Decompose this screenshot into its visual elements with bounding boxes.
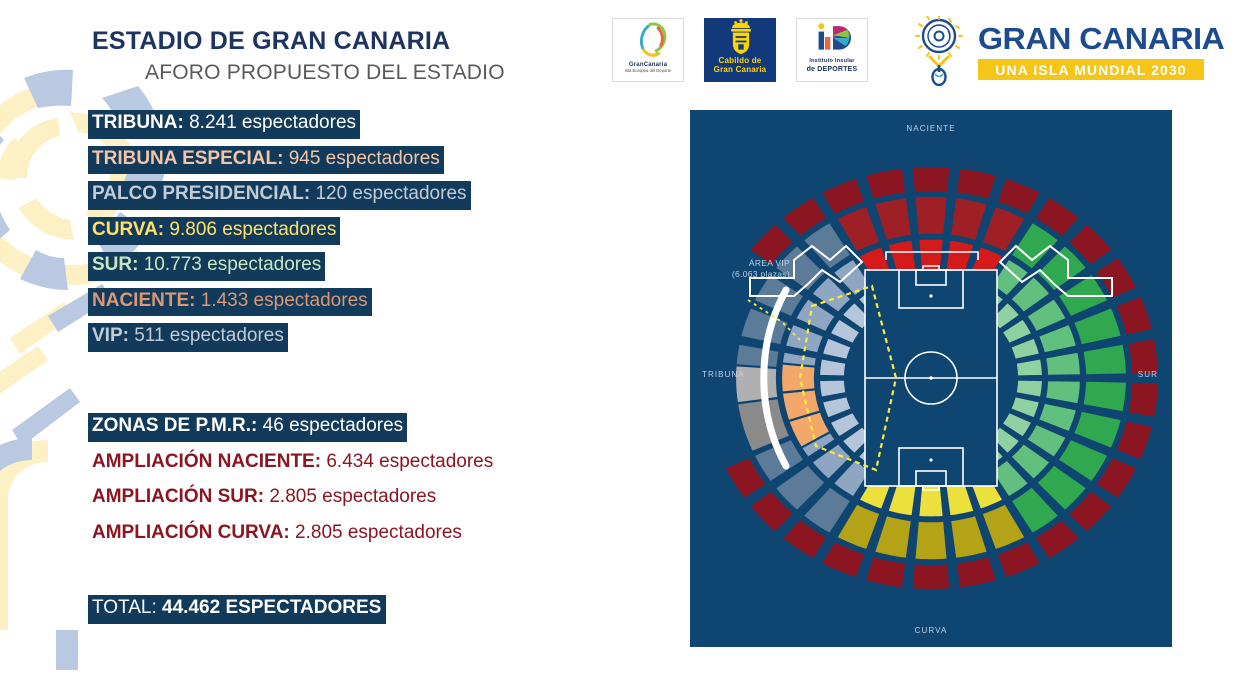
cab-line1: Cabildo de: [719, 56, 762, 65]
logo-gran-canaria: GranCanaria Isla Europea del Deporte: [612, 18, 684, 82]
capacity-chip: ZONAS DE P.M.R.: 46 espectadores: [88, 413, 407, 442]
capacity-row: ZONAS DE P.M.R.: 46 espectadores: [88, 413, 497, 442]
capacity-row: TRIBUNA ESPECIAL: 945 espectadores: [88, 146, 471, 175]
seating-block: [865, 168, 907, 200]
label-area-vip: ÁREA VIP (6.063 plazas): [698, 258, 790, 281]
capacity-chip: CURVA: 9.806 espectadores: [88, 217, 340, 246]
seating-block: [865, 556, 907, 588]
capacity-value: 2.805 espectadores: [269, 486, 436, 507]
seating-block: [956, 556, 998, 588]
capacity-label: CURVA:: [92, 219, 164, 240]
capacity-value: 6.434 espectadores: [326, 451, 493, 472]
stadium-seating-map: [690, 110, 1172, 647]
total-label: TOTAL:: [92, 597, 157, 618]
gc-line2: Isla Europea del Deporte: [613, 69, 683, 74]
vip-line2: (6.063 plazas): [698, 269, 790, 280]
capacity-chip: NACIENTE: 1.433 espectadores: [88, 288, 372, 317]
capacity-label: TRIBUNA:: [92, 112, 184, 133]
capacity-label: AMPLIACIÓN SUR:: [92, 486, 264, 507]
page-title: ESTADIO DE GRAN CANARIA: [92, 27, 450, 56]
seating-block: [874, 515, 912, 559]
brand-tagline: UNA ISLA MUNDIAL 2030: [978, 62, 1204, 78]
capacity-label: AMPLIACIÓN NACIENTE:: [92, 451, 321, 472]
label-naciente: NACIENTE: [690, 124, 1172, 133]
capacity-chip: VIP: 511 espectadores: [88, 323, 288, 352]
seating-block: [929, 458, 932, 461]
capacity-value: 945 espectadores: [289, 148, 440, 169]
capacity-row: TRIBUNA: 8.241 espectadores: [88, 110, 471, 139]
capacity-value: 1.433 espectadores: [201, 290, 368, 311]
cabildo-crest-icon: [705, 19, 777, 55]
iid-caption: Instituto Insular de DEPORTES: [797, 58, 867, 74]
capacity-row: PALCO PRESIDENCIAL: 120 espectadores: [88, 181, 471, 210]
seating-block: [912, 563, 951, 590]
capacity-chip: AMPLIACIÓN NACIENTE: 6.434 espectadores: [88, 449, 497, 478]
capacity-label: NACIENTE:: [92, 290, 195, 311]
capacity-value: 10.773 espectadores: [144, 254, 321, 275]
seating-block: [950, 197, 988, 241]
capacity-row: AMPLIACIÓN CURVA: 2.805 espectadores: [88, 520, 497, 549]
capacity-label: TRIBUNA ESPECIAL:: [92, 148, 283, 169]
logo-cabildo: Cabildo de Gran Canaria: [704, 18, 776, 82]
seating-block: [1015, 358, 1043, 376]
capacity-chip: AMPLIACIÓN SUR: 2.805 espectadores: [88, 484, 440, 513]
capacity-chip: TRIBUNA ESPECIAL: 945 espectadores: [88, 146, 444, 175]
capacity-chip: TRIBUNA: 8.241 espectadores: [88, 110, 360, 139]
brand-gran-canaria-2030: GRAN CANARIA UNA ISLA MUNDIAL 2030: [906, 16, 1206, 86]
capacity-value: 46 espectadores: [263, 415, 404, 436]
capacity-label: AMPLIACIÓN CURVA:: [92, 522, 290, 543]
seating-block: [1045, 380, 1081, 404]
seating-block: [874, 197, 912, 241]
seating-block: [1015, 380, 1043, 398]
capacity-row: AMPLIACIÓN NACIENTE: 6.434 espectadores: [88, 449, 497, 478]
capacity-label: ZONAS DE P.M.R.:: [92, 415, 257, 436]
seating-block: [1127, 382, 1159, 419]
capacity-value: 8.241 espectadores: [189, 112, 356, 133]
capacity-value: 511 espectadores: [134, 325, 284, 346]
capacity-row: SUR: 10.773 espectadores: [88, 252, 471, 281]
iid-line2: de DEPORTES: [797, 65, 867, 74]
stadium-plan: NACIENTE CURVA TRIBUNA SUR ÁREA VIP (6.0…: [690, 110, 1172, 647]
capacity-value: 120 espectadores: [315, 183, 466, 204]
label-tribuna: TRIBUNA: [702, 370, 745, 379]
iid-mark-icon: [797, 19, 869, 55]
capacity-chip: AMPLIACIÓN CURVA: 2.805 espectadores: [88, 520, 466, 549]
capacity-row: NACIENTE: 1.433 espectadores: [88, 288, 471, 317]
seating-block: [929, 294, 932, 297]
cab-line2: Gran Canaria: [714, 65, 767, 74]
capacity-row: CURVA: 9.806 espectadores: [88, 217, 471, 246]
cabildo-caption: Cabildo de Gran Canaria: [705, 57, 775, 75]
brand-title: GRAN CANARIA: [978, 21, 1224, 57]
seating-block: [1082, 344, 1127, 376]
total-chip: TOTAL: 44.462 ESPECTADORES: [88, 595, 386, 624]
seating-block: [929, 376, 933, 380]
page-subtitle: AFORO PROPUESTO DEL ESTADIO: [145, 61, 505, 85]
brand-tagline-bar: UNA ISLA MUNDIAL 2030: [978, 59, 1204, 80]
total-value: 44.462 ESPECTADORES: [162, 597, 381, 618]
seating-block: [781, 363, 816, 392]
label-curva: CURVA: [690, 626, 1172, 635]
capacity-list-main: TRIBUNA: 8.241 espectadoresTRIBUNA ESPEC…: [88, 110, 471, 359]
gc2030-emblem-icon: [906, 16, 972, 88]
total-row: TOTAL: 44.462 ESPECTADORES: [88, 595, 386, 624]
capacity-value: 9.806 espectadores: [169, 219, 336, 240]
seating-block: [819, 358, 847, 376]
logo-instituto-insular-deportes: Instituto Insular de DEPORTES: [796, 18, 868, 82]
iid-line1: Instituto Insular: [809, 58, 854, 64]
capacity-label: SUR:: [92, 254, 138, 275]
capacity-list-extra: ZONAS DE P.M.R.: 46 espectadoresAMPLIACI…: [88, 413, 497, 555]
seating-block: [1045, 352, 1081, 376]
seating-block: [950, 515, 988, 559]
seating-block: [912, 166, 951, 193]
seating-block: [914, 196, 947, 236]
capacity-panel: ESTADIO DE GRAN CANARIA AFORO PROPUESTO …: [0, 0, 640, 691]
seating-block: [819, 380, 847, 398]
capacity-value: 2.805 espectadores: [295, 522, 462, 543]
capacity-label: PALCO PRESIDENCIAL:: [92, 183, 310, 204]
capacity-row: AMPLIACIÓN SUR: 2.805 espectadores: [88, 484, 497, 513]
gran-canaria-caption: GranCanaria Isla Europea del Deporte: [613, 62, 683, 74]
capacity-row: VIP: 511 espectadores: [88, 323, 471, 352]
capacity-chip: PALCO PRESIDENCIAL: 120 espectadores: [88, 181, 471, 210]
gran-canaria-leaf-icon: [613, 19, 685, 59]
capacity-label: VIP:: [92, 325, 129, 346]
vip-line1: ÁREA VIP: [698, 258, 790, 269]
label-sur: SUR: [1138, 370, 1158, 379]
seating-block: [1127, 338, 1159, 375]
capacity-chip: SUR: 10.773 espectadores: [88, 252, 325, 281]
seating-block: [1082, 381, 1127, 413]
seating-block: [914, 521, 947, 561]
seating-block: [956, 168, 998, 200]
